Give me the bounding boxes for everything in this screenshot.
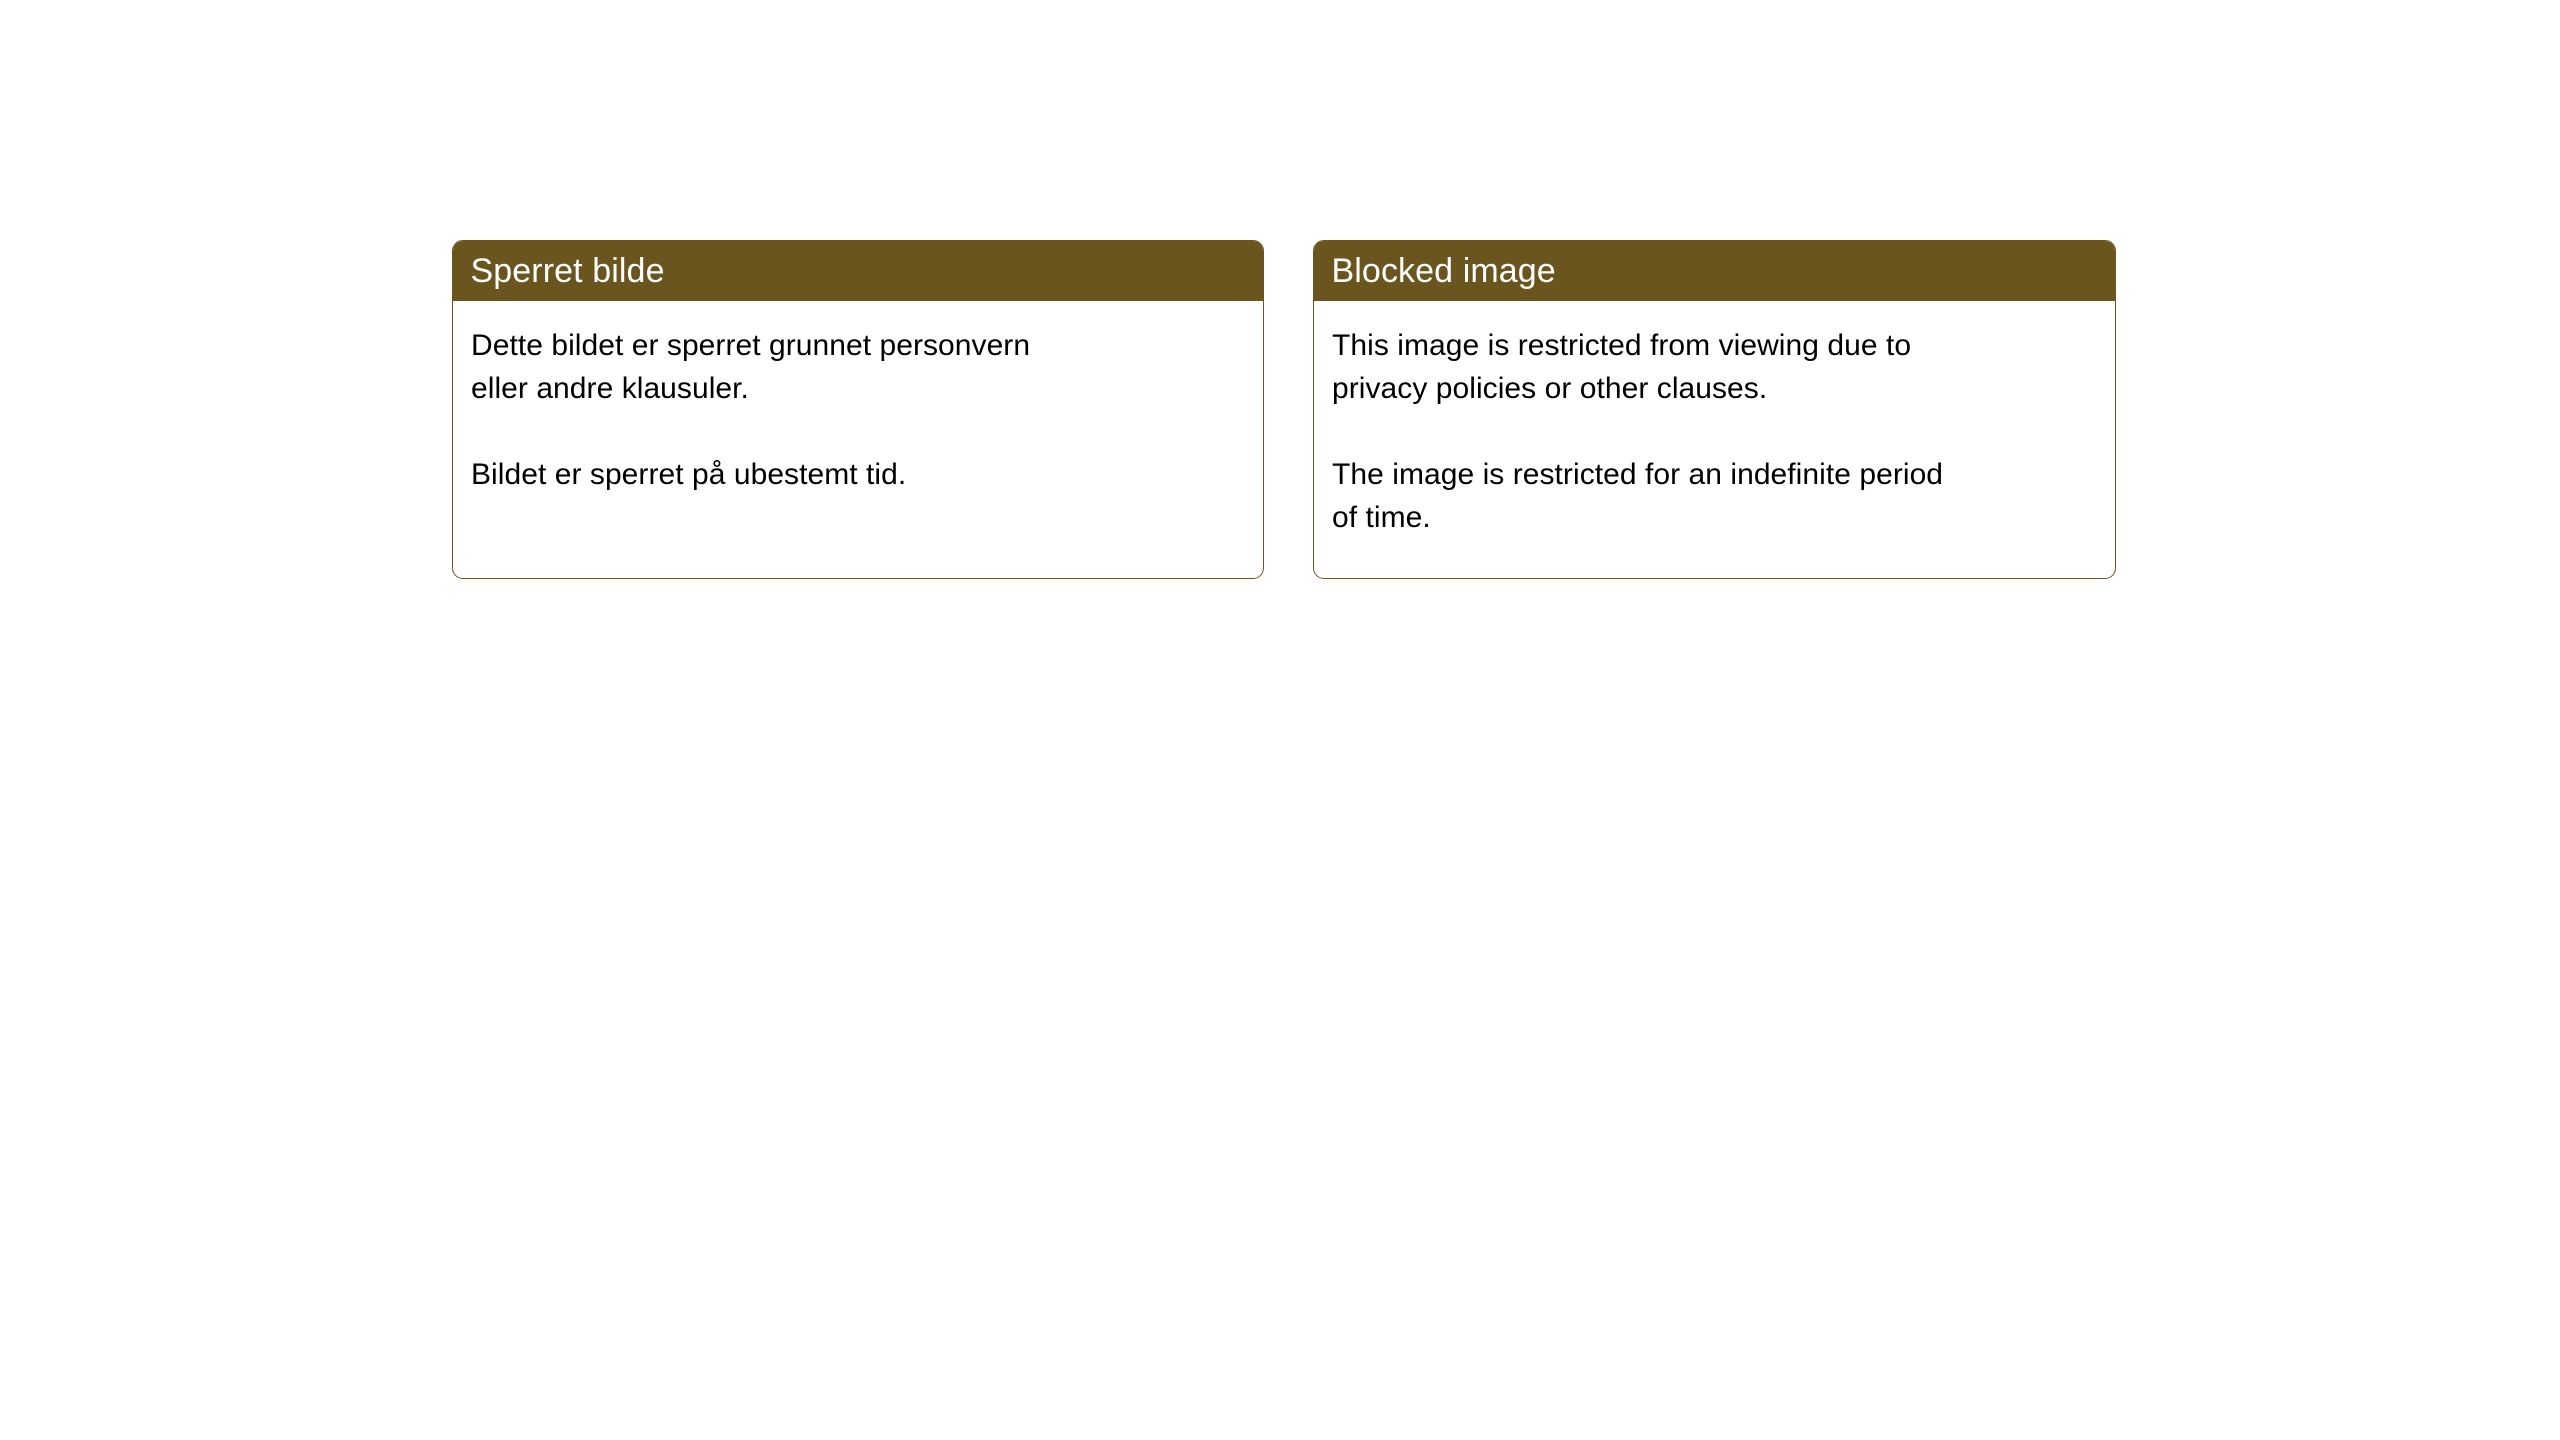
notice-line: The image is restricted for an indefinit… [1332,453,2095,496]
panel-title-no: Sperret bilde [471,254,665,288]
notice-line: This image is restricted from viewing du… [1332,324,2095,367]
panel-header-en: Blocked image [1313,240,2116,301]
panel-title-en: Blocked image [1332,254,1556,288]
page-canvas: Sperret bilde Dette bildet er sperret gr… [0,0,2560,1440]
notice-paragraph-2-en: The image is restricted for an indefinit… [1332,453,2095,539]
notice-paragraph-1-en: This image is restricted from viewing du… [1332,324,2095,410]
notice-line: privacy policies or other clauses. [1332,367,2095,410]
notice-line: Bildet er sperret på ubestemt tid. [471,453,1243,496]
notice-line: Dette bildet er sperret grunnet personve… [471,324,1243,367]
notice-line: eller andre klausuler. [471,367,1243,410]
notice-line: of time. [1332,496,2095,539]
blocked-image-notice-no: Sperret bilde Dette bildet er sperret gr… [452,240,1264,579]
notice-paragraph-2-no: Bildet er sperret på ubestemt tid. [471,453,1243,496]
panel-body-no: Dette bildet er sperret grunnet personve… [453,301,1263,496]
panel-body-en: This image is restricted from viewing du… [1314,301,2115,539]
notice-paragraph-1-no: Dette bildet er sperret grunnet personve… [471,324,1243,410]
panel-header-no: Sperret bilde [452,240,1264,301]
blocked-image-notice-en: Blocked image This image is restricted f… [1313,240,2116,579]
